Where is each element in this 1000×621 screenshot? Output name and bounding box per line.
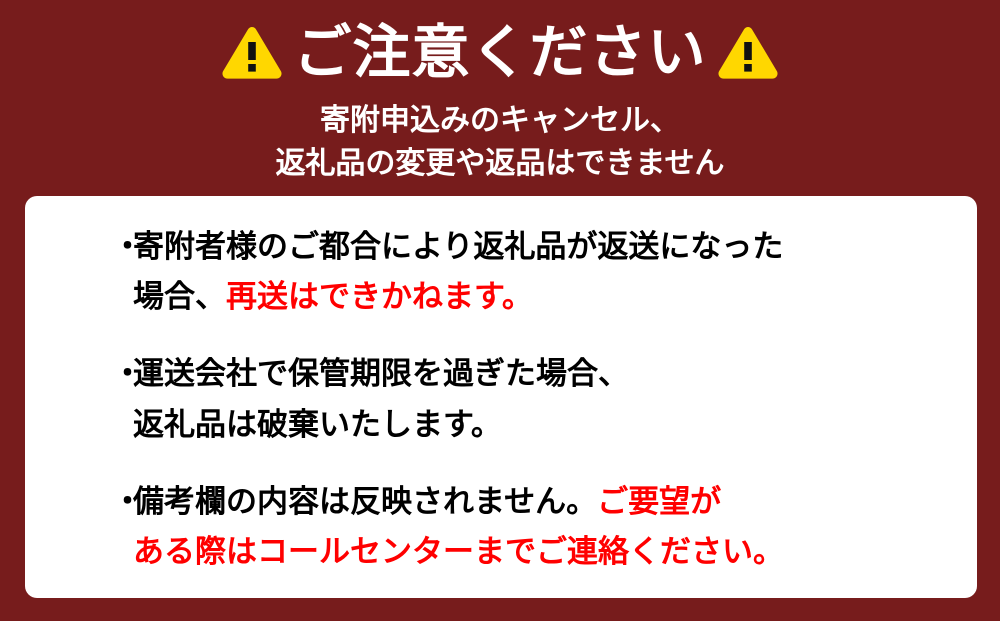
page-title: ご注意ください (293, 24, 706, 82)
notice-text-emphasis: ご要望が (597, 484, 721, 519)
title-row: ご注意ください (221, 14, 778, 92)
notice-line: 場合、再送はできかねます。 (133, 272, 947, 322)
notice-line: 寄附者様のご都合により返礼品が返送になった (133, 222, 947, 272)
notice-line: 運送会社で保管期限を過ぎた場合、 (133, 349, 947, 399)
notice-list: ・ 寄附者様のご都合により返礼品が返送になった 場合、再送はできかねます。 ・ … (133, 222, 947, 577)
list-item: ・ 運送会社で保管期限を過ぎた場合、 返礼品は破棄いたします。 (133, 349, 947, 449)
bullet-marker: ・ (112, 222, 143, 272)
notice-line: ある際はコールセンターまでご連絡ください。 (133, 527, 947, 577)
list-item: ・ 備考欄の内容は反映されません。ご要望が ある際はコールセンターまでご連絡くだ… (133, 477, 947, 577)
banner-header: ご注意ください 寄附申込みのキャンセル、 返礼品の変更や返品はできません (0, 0, 1000, 185)
banner-subtitle: 寄附申込みのキャンセル、 返礼品の変更や返品はできません (275, 100, 724, 185)
notice-line: 返礼品は破棄いたします。 (133, 400, 947, 450)
subtitle-line-2: 返礼品の変更や返品はできません (275, 147, 724, 180)
notice-text: 寄附者様のご都合により返礼品が返送になった (133, 229, 783, 264)
notice-text: 返礼品は破棄いたします。 (133, 407, 502, 442)
notice-text-emphasis: 再送はできかねます。 (226, 279, 533, 314)
notice-text-emphasis: ある際はコールセンターまでご連絡ください。 (133, 534, 784, 569)
notice-text: 運送会社で保管期限を過ぎた場合、 (133, 356, 629, 391)
notice-text: 備考欄の内容は反映されません。 (133, 484, 597, 519)
bullet-marker: ・ (112, 477, 143, 527)
bullet-marker: ・ (112, 349, 143, 399)
notice-card: ・ 寄附者様のご都合により返礼品が返送になった 場合、再送はできかねます。 ・ … (25, 196, 977, 598)
warning-triangle-icon (221, 25, 283, 81)
notice-line: 備考欄の内容は反映されません。ご要望が (133, 477, 947, 527)
list-item: ・ 寄附者様のご都合により返礼品が返送になった 場合、再送はできかねます。 (133, 222, 947, 322)
warning-triangle-icon (717, 25, 779, 81)
notice-text: 場合、 (133, 279, 226, 314)
warning-banner: ご注意ください 寄附申込みのキャンセル、 返礼品の変更や返品はできません ・ 寄… (0, 0, 1000, 621)
subtitle-line-1: 寄附申込みのキャンセル、 (320, 104, 680, 137)
